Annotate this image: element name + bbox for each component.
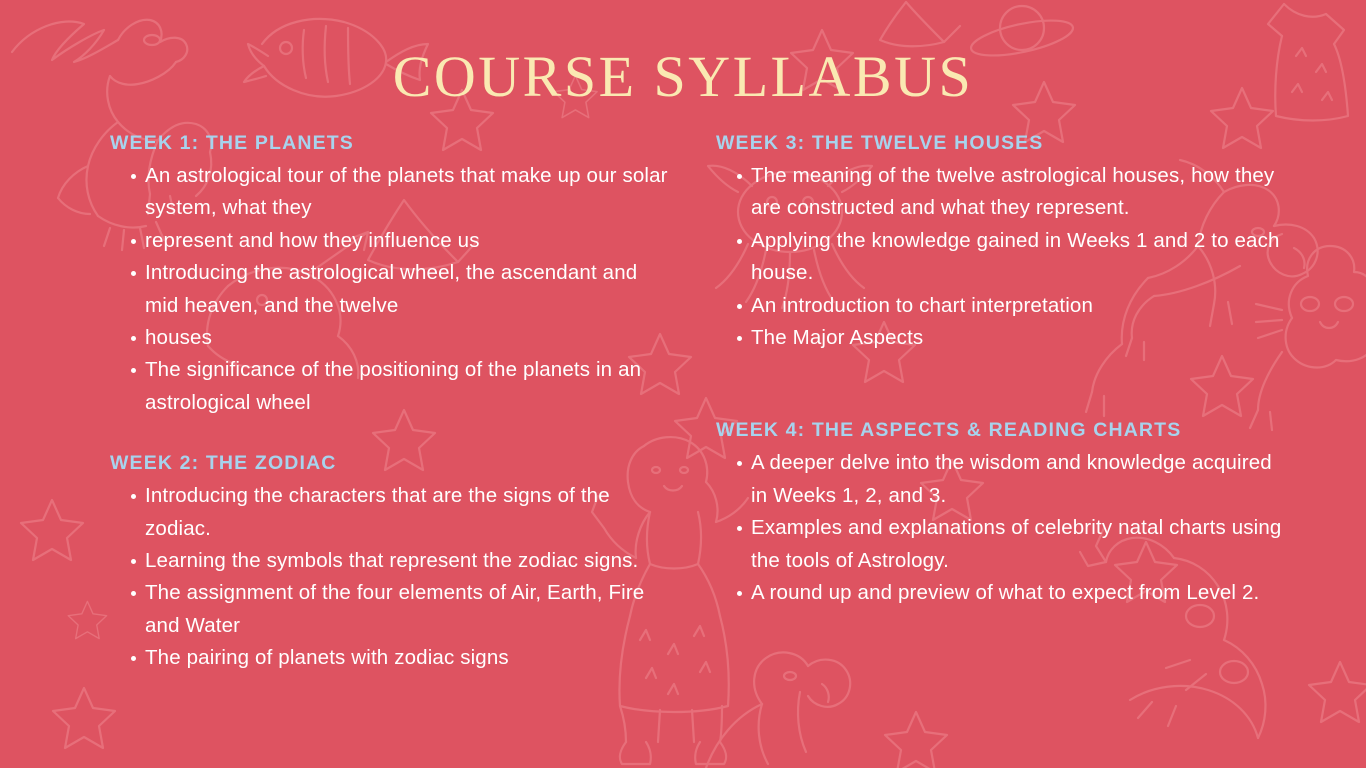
list-item: A deeper delve into the wisdom and knowl… [716, 447, 1286, 512]
bullet-list-week-3: The meaning of the twelve astrological h… [716, 160, 1286, 354]
section-heading-week-2: WEEK 2: THE ZODIAC [110, 450, 670, 476]
list-item: Introducing the astrological wheel, the … [110, 257, 670, 322]
right-column: WEEK 3: THE TWELVE HOUSES The meaning of… [716, 130, 1286, 609]
list-item: A round up and preview of what to expect… [716, 577, 1286, 609]
list-item: The Major Aspects [716, 322, 1286, 354]
section-week-4: WEEK 4: THE ASPECTS & READING CHARTS A d… [716, 417, 1286, 609]
list-item: The significance of the positioning of t… [110, 354, 670, 419]
list-item: Applying the knowledge gained in Weeks 1… [716, 225, 1286, 290]
list-item: Introducing the characters that are the … [110, 480, 670, 545]
section-heading-week-3: WEEK 3: THE TWELVE HOUSES [716, 130, 1286, 156]
page-title: COURSE SYLLABUS [0, 46, 1366, 108]
left-column: WEEK 1: THE PLANETS An astrological tour… [110, 130, 670, 675]
section-heading-week-4: WEEK 4: THE ASPECTS & READING CHARTS [716, 417, 1286, 443]
section-week-3: WEEK 3: THE TWELVE HOUSES The meaning of… [716, 130, 1286, 354]
list-item: The assignment of the four elements of A… [110, 577, 670, 642]
list-item: represent and how they influence us [110, 225, 670, 257]
slide-root: COURSE SYLLABUS WEEK 1: THE PLANETS An a… [0, 0, 1366, 768]
list-item: The pairing of planets with zodiac signs [110, 642, 670, 674]
list-item: The meaning of the twelve astrological h… [716, 160, 1286, 225]
list-item: An astrological tour of the planets that… [110, 160, 670, 225]
bullet-list-week-2: Introducing the characters that are the … [110, 480, 670, 674]
bullet-list-week-1: An astrological tour of the planets that… [110, 160, 670, 419]
section-week-2: WEEK 2: THE ZODIAC Introducing the chara… [110, 450, 670, 674]
section-week-1: WEEK 1: THE PLANETS An astrological tour… [110, 130, 670, 419]
bullet-list-week-4: A deeper delve into the wisdom and knowl… [716, 447, 1286, 609]
list-item: Examples and explanations of celebrity n… [716, 512, 1286, 577]
list-item: An introduction to chart interpretation [716, 290, 1286, 322]
section-heading-week-1: WEEK 1: THE PLANETS [110, 130, 670, 156]
list-item: houses [110, 322, 670, 354]
list-item: Learning the symbols that represent the … [110, 545, 670, 577]
